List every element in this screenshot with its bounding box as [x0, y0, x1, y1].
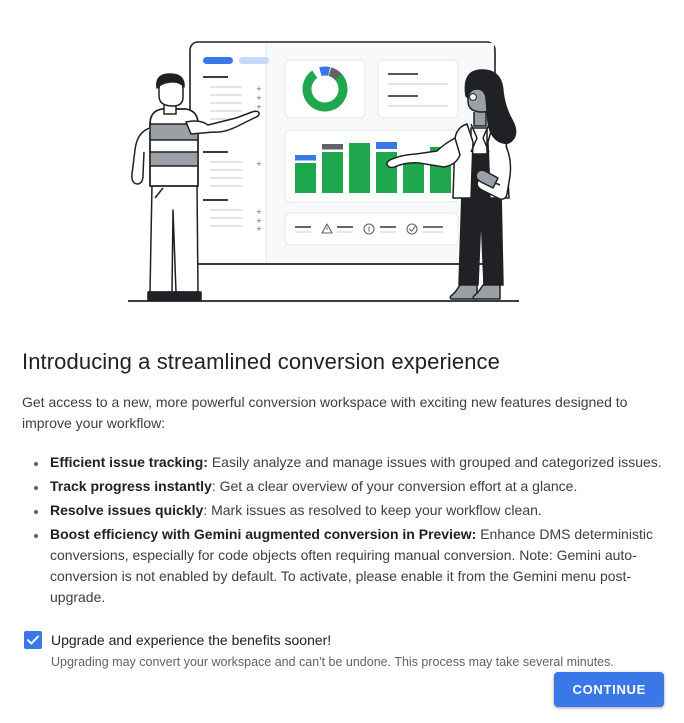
consent-label: Upgrade and experience the benefits soon… [51, 630, 614, 650]
feature-bold: Efficient issue tracking: [50, 454, 208, 470]
feature-bold: Track progress instantly [50, 478, 212, 494]
content-area: Introducing a streamlined conversion exp… [0, 348, 684, 671]
feature-rest: : Get a clear overview of your conversio… [212, 478, 577, 494]
svg-text:+: + [256, 225, 262, 233]
upgrade-checkbox[interactable] [24, 631, 42, 649]
svg-text:+: + [256, 103, 262, 111]
list-item: Efficient issue tracking: Easily analyze… [48, 452, 664, 473]
consent-texts: Upgrade and experience the benefits soon… [51, 630, 614, 671]
illustration-svg: + + + + + + + [0, 0, 684, 320]
svg-text:+: + [256, 85, 262, 93]
page-title: Introducing a streamlined conversion exp… [22, 348, 664, 376]
feature-rest: : Mark issues as resolved to keep your w… [203, 502, 541, 518]
sidebar-tag-primary [203, 57, 233, 64]
checkmark-icon [26, 633, 40, 647]
feature-list: Efficient issue tracking: Easily analyze… [22, 452, 664, 608]
consent-row[interactable]: Upgrade and experience the benefits soon… [24, 630, 664, 671]
summary-lines-card [378, 60, 458, 118]
status-list-card [285, 213, 458, 245]
list-item: Boost efficiency with Gemini augmented c… [48, 524, 664, 608]
list-item: Track progress instantly: Get a clear ov… [48, 476, 664, 497]
svg-text:+: + [256, 217, 262, 225]
hero-illustration: + + + + + + + [0, 0, 684, 320]
bar-chart-card [285, 130, 458, 202]
continue-button[interactable]: CONTINUE [554, 672, 665, 707]
svg-text:+: + [256, 208, 262, 216]
svg-text:+: + [256, 160, 262, 168]
intro-paragraph: Get access to a new, more powerful conve… [22, 392, 647, 434]
footer-actions: CONTINUE [554, 672, 665, 707]
sidebar-tag-secondary [239, 57, 269, 64]
list-item: Resolve issues quickly: Mark issues as r… [48, 500, 664, 521]
feature-bold: Resolve issues quickly [50, 502, 203, 518]
feature-rest: Easily analyze and manage issues with gr… [208, 454, 662, 470]
consent-sublabel: Upgrading may convert your workspace and… [51, 653, 614, 671]
feature-bold: Boost efficiency with Gemini augmented c… [50, 526, 476, 542]
donut-chart-card [285, 60, 365, 118]
svg-text:+: + [256, 94, 262, 102]
